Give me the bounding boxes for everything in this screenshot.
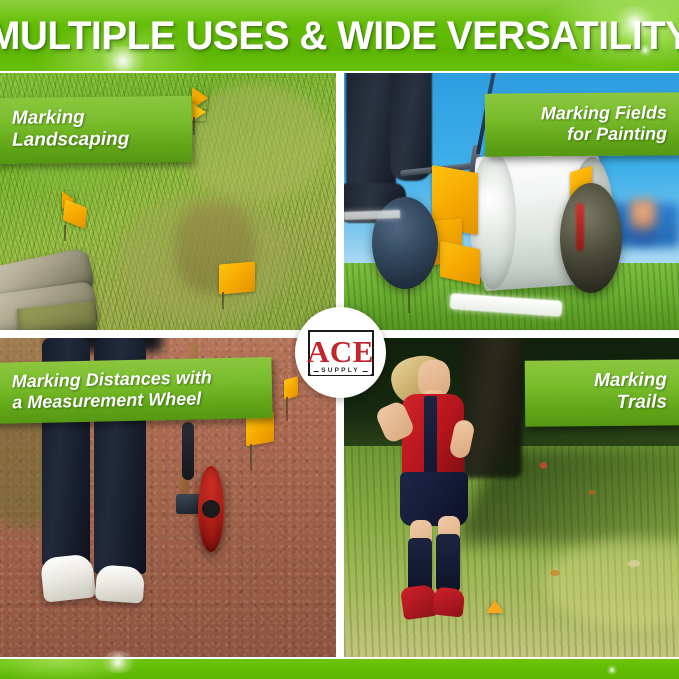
poster-infographic: MULTIPLE USES & WIDE VERSATILITY [0, 0, 679, 679]
leaf-debris [628, 560, 640, 567]
panel-label-marking-trails: Marking Trails [525, 359, 679, 426]
runner-shoe [433, 587, 466, 618]
panel-marking-trails[interactable]: Marking Trails [344, 338, 679, 657]
runner-shirt-stripe [424, 396, 437, 482]
trail-marker-cone [486, 600, 504, 613]
marking-flag [284, 378, 308, 422]
logo-subtitle: SUPPLY [321, 368, 360, 375]
machine-wheel [560, 183, 622, 293]
logo-wordmark: ACE [307, 336, 374, 367]
background-figure [630, 199, 656, 243]
leaf-debris [540, 462, 547, 469]
logo-subtitle-wrap: SUPPLY [310, 368, 371, 375]
page-title: MULTIPLE USES & WIDE VERSATILITY [12, 0, 667, 71]
machine-detail [576, 203, 584, 251]
sparkle-icon [606, 665, 618, 675]
brand-logo-badge[interactable]: ACE SUPPLY [295, 307, 386, 398]
marking-flag [62, 191, 98, 241]
measuring-wheel-grip [182, 422, 194, 480]
footer-banner [0, 659, 679, 679]
logo-dash-left-icon [313, 371, 318, 373]
panel-label-marking-landscaping: Marking Landscaping [0, 96, 192, 164]
leaf-debris [588, 490, 596, 495]
panel-marking-fields-for-painting[interactable]: Marking Fields for Painting [344, 73, 679, 330]
operator-leg [346, 73, 396, 197]
person-shoe [40, 553, 96, 602]
logo-frame: ACE SUPPLY [308, 330, 374, 376]
runner-shoe [400, 584, 438, 620]
marking-flag [192, 87, 226, 133]
panel-marking-landscaping[interactable]: Marking Landscaping [0, 73, 336, 330]
operator-leg [390, 73, 432, 181]
person-shoe [95, 564, 145, 603]
runner-sock [436, 534, 460, 592]
marking-flag [246, 414, 282, 470]
panel-label-marking-distances: Marking Distances with a Measurement Whe… [0, 357, 273, 424]
header-banner: MULTIPLE USES & WIDE VERSATILITY [0, 0, 679, 71]
panel-marking-distances-measurement-wheel[interactable]: Marking Distances with a Measurement Whe… [0, 338, 336, 657]
panel-label-marking-fields-for-painting: Marking Fields for Painting [485, 92, 679, 157]
leaf-debris [550, 570, 560, 576]
logo-dash-right-icon [363, 371, 368, 373]
marking-flag [219, 263, 263, 309]
measuring-wheel [202, 470, 220, 548]
